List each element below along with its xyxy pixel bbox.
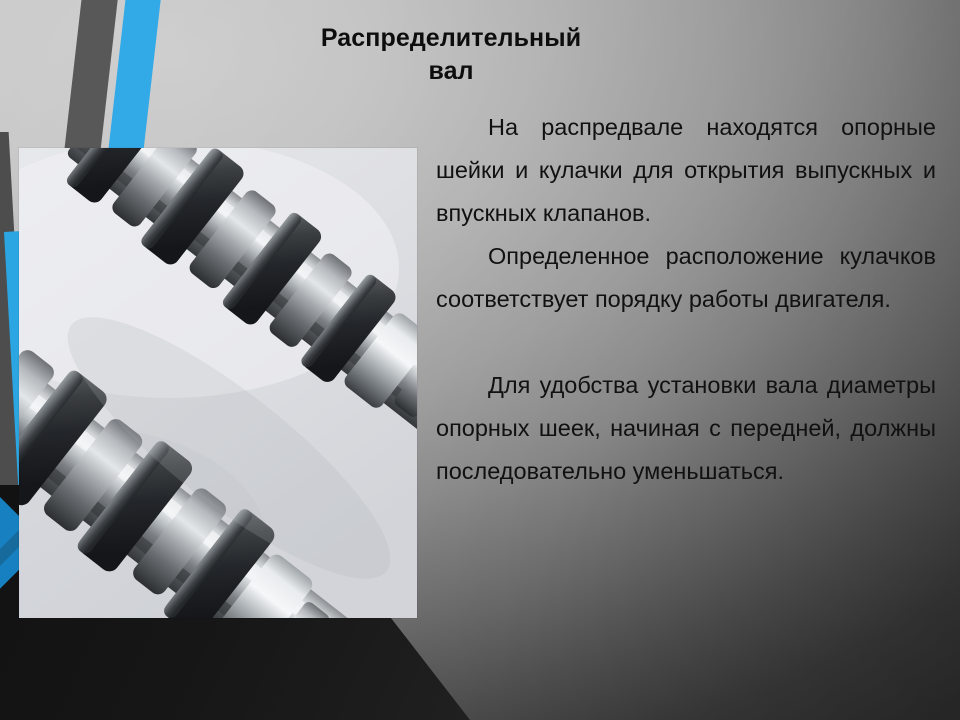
paragraph-1: На распредвале находятся опорные шейки и…	[436, 106, 936, 235]
page-title-line-1: Распределительный	[236, 22, 666, 55]
paragraph-3: Для удобства установки вала диаметры опо…	[436, 364, 936, 493]
body-text-column: На распредвале находятся опорные шейки и…	[436, 106, 936, 493]
page-title: Распределительный вал	[236, 22, 666, 88]
page-title-line-2: вал	[236, 55, 666, 88]
slide-canvas: Распределительный вал	[0, 0, 960, 720]
paragraph-2: Определенное расположение кулачков соотв…	[436, 235, 936, 321]
camshaft-photo	[19, 148, 417, 618]
camshaft-illustration	[19, 148, 417, 618]
